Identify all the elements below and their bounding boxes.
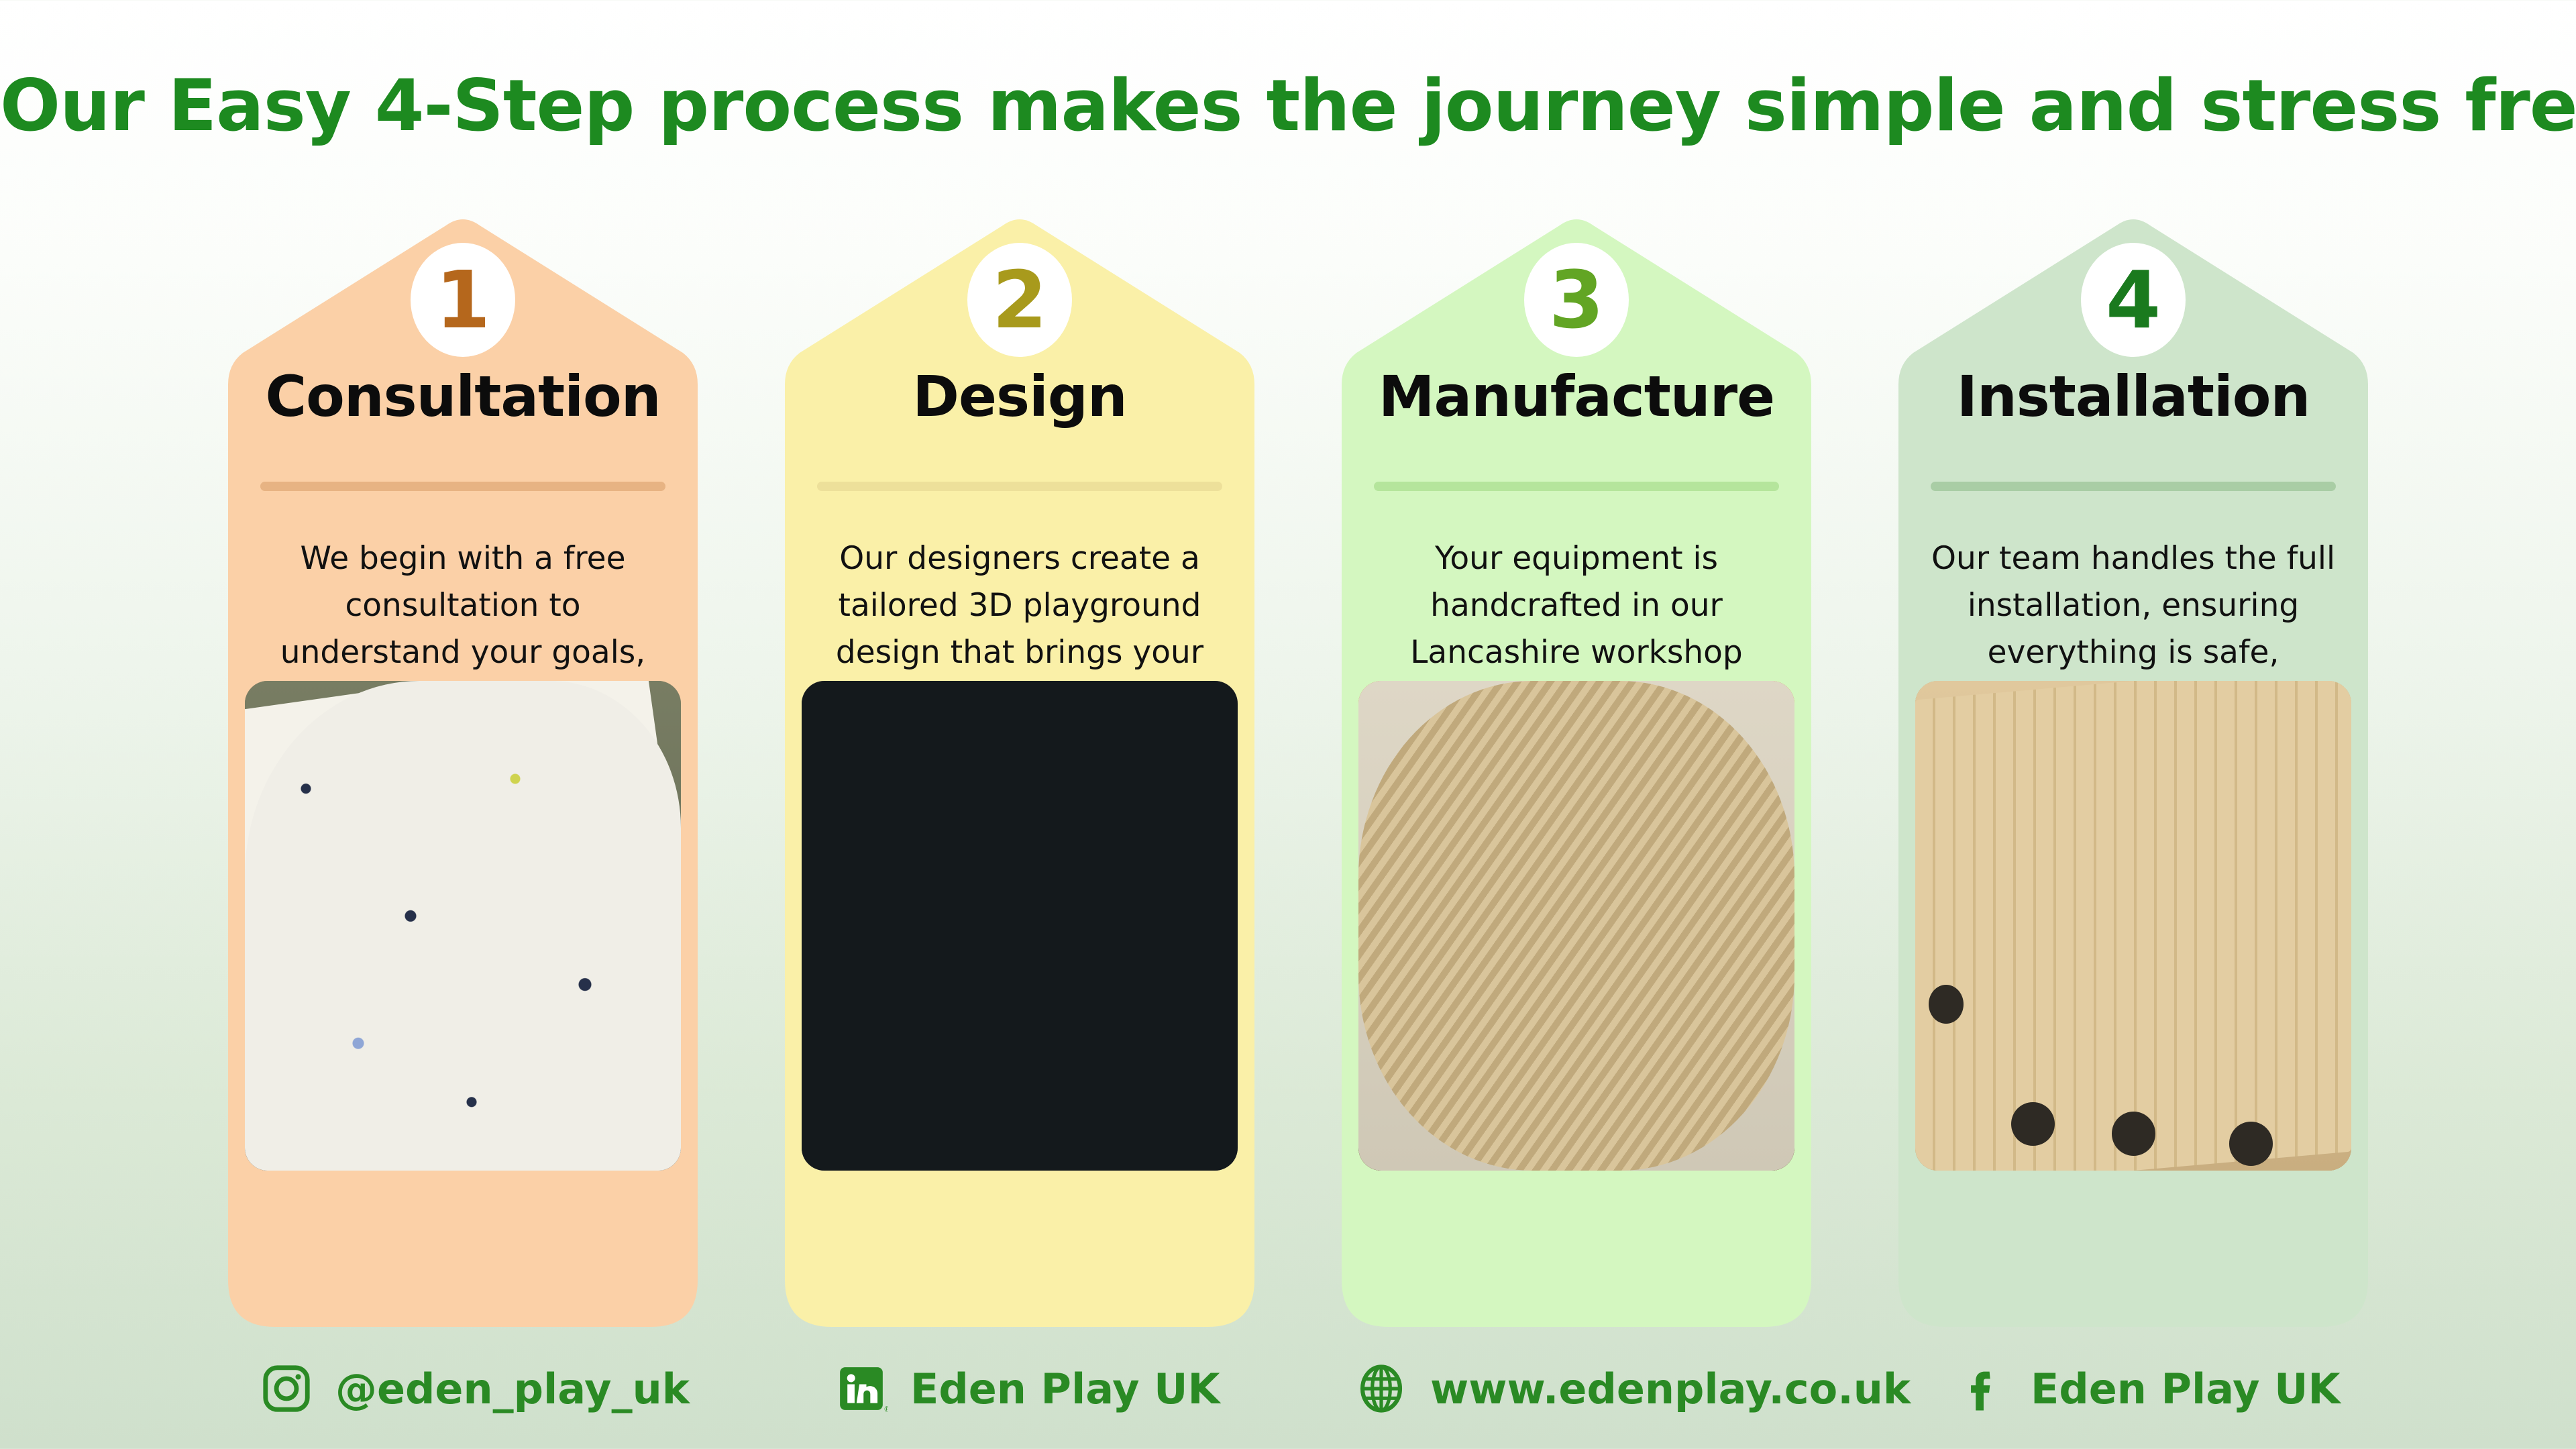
metal-railings: [802, 681, 1238, 1171]
train-wheel: [2011, 1102, 2055, 1146]
step-divider-1: [260, 482, 665, 491]
footer-item-instagram[interactable]: @eden_play_uk: [260, 1342, 690, 1436]
step-number-2: 2: [992, 260, 1047, 339]
step-card-2[interactable]: 2 Design Our designers create a tailored…: [765, 213, 1275, 1327]
footer-label-website[interactable]: www.edenplay.co.uk: [1430, 1364, 1911, 1413]
step-title-4: Installation: [1878, 364, 2388, 429]
page-title: Our Easy 4-Step process makes the journe…: [0, 64, 2576, 147]
footer-label-facebook[interactable]: Eden Play UK: [2031, 1364, 2341, 1413]
step-title-3: Manufacture: [1322, 364, 1831, 429]
train-wheel: [2112, 1112, 2155, 1156]
extraction-hose: [1358, 681, 1794, 1171]
step-divider-3: [1374, 482, 1779, 491]
woman-blouse: [245, 681, 681, 1171]
step-number-badge-4: 4: [2081, 243, 2186, 357]
step-card-4[interactable]: 4 Installation Our team handles the full…: [1878, 213, 2388, 1327]
instagram-icon[interactable]: [260, 1362, 313, 1415]
footer-item-facebook[interactable]: Eden Play UK: [1955, 1342, 2341, 1436]
step-card-1[interactable]: 1 Consultation We begin with a free cons…: [208, 213, 718, 1327]
step-number-badge-3: 3: [1524, 243, 1629, 357]
train-wheel: [2229, 1122, 2273, 1166]
facebook-icon[interactable]: [1955, 1362, 2008, 1415]
train-wheel: [1929, 985, 1964, 1024]
installed-wooden-train-photo: [1915, 681, 2351, 1171]
footer-label-linkedin[interactable]: Eden Play UK: [910, 1364, 1220, 1413]
consultation-photo: We are learning: [245, 681, 681, 1171]
linkedin-icon[interactable]: ®: [835, 1362, 888, 1415]
footer-item-linkedin[interactable]: ® Eden Play UK: [835, 1342, 1220, 1436]
globe-icon[interactable]: [1355, 1362, 1407, 1415]
cab-roof: [1915, 681, 2351, 1171]
footer-item-website[interactable]: www.edenplay.co.uk: [1355, 1342, 1911, 1436]
step-title-1: Consultation: [208, 364, 718, 429]
workshop-mitre-saw-photo: DeWALT: [1358, 681, 1794, 1171]
footer-label-instagram[interactable]: @eden_play_uk: [335, 1364, 690, 1413]
step-number-3: 3: [1549, 260, 1604, 339]
step-number-badge-2: 2: [967, 243, 1072, 357]
step-number-1: 1: [435, 260, 490, 339]
3d-design-render-photo: [802, 681, 1238, 1171]
step-card-3[interactable]: 3 Manufacture Your equipment is handcraf…: [1322, 213, 1831, 1327]
svg-text:®: ®: [883, 1405, 888, 1413]
steps-container: 1 Consultation We begin with a free cons…: [0, 213, 2576, 1327]
step-title-2: Design: [765, 364, 1275, 429]
step-divider-2: [817, 482, 1222, 491]
footer-social-bar: @eden_play_uk ® Eden Play UK www.edenpla…: [0, 1342, 2576, 1436]
step-divider-4: [1931, 482, 2336, 491]
step-number-4: 4: [2106, 260, 2161, 339]
step-number-badge-1: 1: [411, 243, 515, 357]
